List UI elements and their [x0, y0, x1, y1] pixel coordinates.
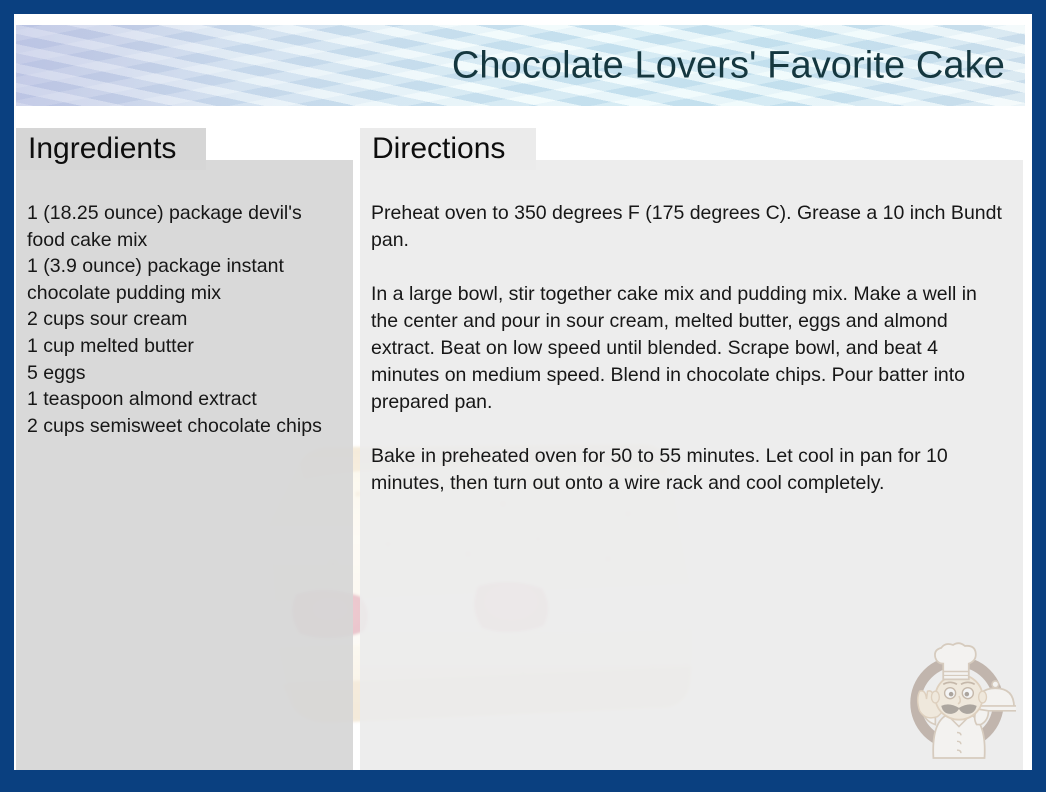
directions-paragraph: Bake in preheated oven for 50 to 55 minu…: [371, 443, 1009, 497]
list-item: 1 teaspoon almond extract: [27, 386, 339, 413]
directions-paragraph: In a large bowl, stir together cake mix …: [371, 281, 1009, 416]
directions-heading: Directions: [372, 132, 505, 166]
ingredients-panel-body: 1 (18.25 ounce) package devil's food cak…: [16, 170, 353, 439]
directions-tab: Directions: [360, 128, 536, 170]
ingredients-tab: Ingredients: [16, 128, 206, 170]
list-item: 5 eggs: [27, 360, 339, 387]
list-item: 1 cup melted butter: [27, 333, 339, 360]
title-banner: Chocolate Lovers' Favorite Cake: [16, 25, 1025, 106]
recipe-card: Chocolate Lovers' Favorite Cake: [0, 0, 1046, 792]
ingredients-heading: Ingredients: [28, 132, 176, 166]
directions-panel: Directions Preheat oven to 350 degrees F…: [360, 160, 1023, 770]
list-item: 1 (18.25 ounce) package devil's food cak…: [27, 200, 339, 253]
directions-panel-body: Preheat oven to 350 degrees F (175 degre…: [360, 170, 1023, 497]
ingredients-list: 1 (18.25 ounce) package devil's food cak…: [27, 200, 339, 439]
directions-paragraph: Preheat oven to 350 degrees F (175 degre…: [371, 200, 1009, 254]
list-item: 2 cups semisweet chocolate chips: [27, 413, 339, 440]
list-item: 1 (3.9 ounce) package instant chocolate …: [27, 253, 339, 306]
page-title: Chocolate Lovers' Favorite Cake: [452, 44, 1005, 87]
directions-text: Preheat oven to 350 degrees F (175 degre…: [371, 200, 1009, 497]
ingredients-panel: Ingredients 1 (18.25 ounce) package devi…: [16, 160, 353, 770]
list-item: 2 cups sour cream: [27, 306, 339, 333]
